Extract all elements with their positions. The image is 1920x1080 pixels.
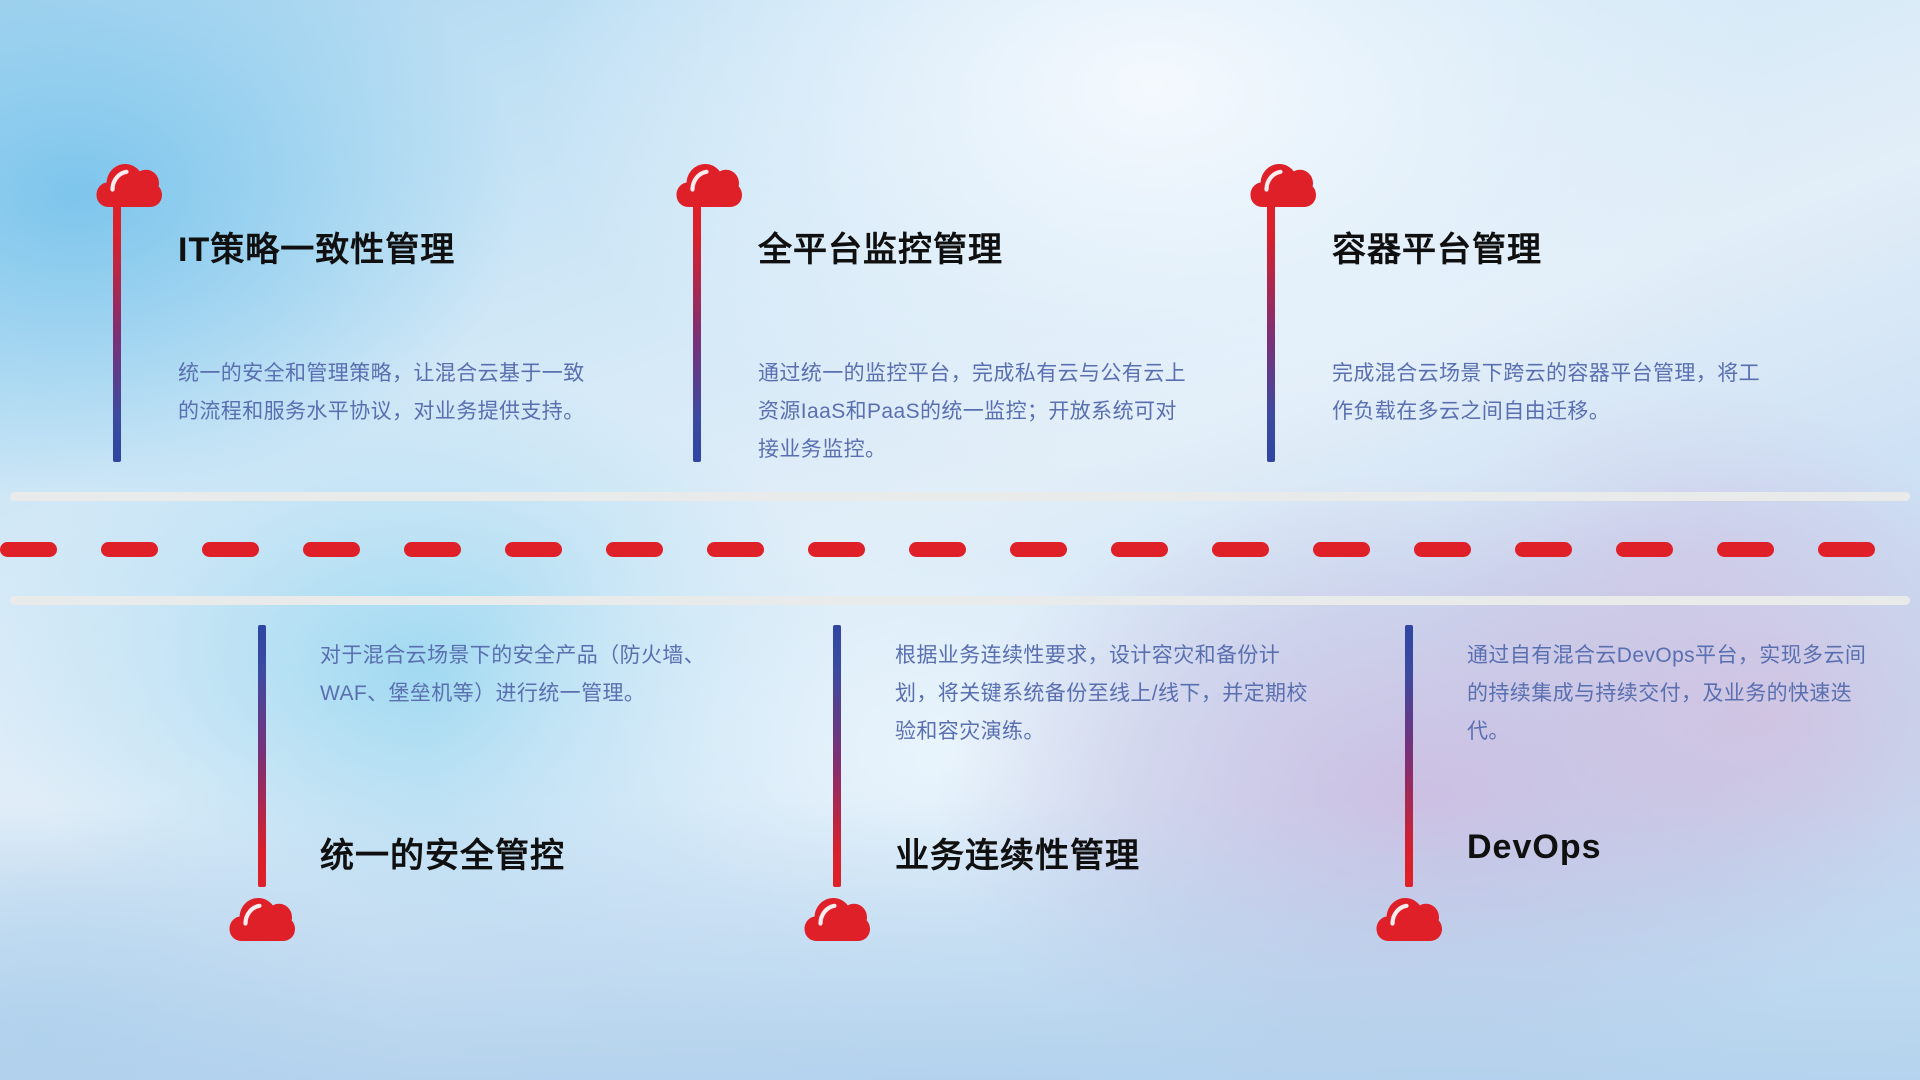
card-description-it-policy-consistency: 统一的安全和管理策略，让混合云基于一致的流程和服务水平协议，对业务提供支持。	[178, 355, 598, 431]
cloud-icon	[676, 158, 742, 210]
road-dash-segment	[101, 542, 158, 557]
road-edge-top	[10, 492, 1910, 501]
pin-pole-unified-security	[258, 625, 266, 887]
road-center-dashed-line	[0, 541, 1920, 557]
card-description-full-platform-monitoring: 通过统一的监控平台，完成私有云与公有云上资源IaaS和PaaS的统一监控；开放系…	[758, 355, 1198, 469]
road-dash-segment	[0, 542, 57, 557]
pin-pole-devops	[1405, 625, 1413, 887]
pin-marker-it-policy-consistency	[96, 158, 162, 210]
road-dash-segment	[1010, 542, 1067, 557]
road-dash-segment	[1212, 542, 1269, 557]
road-dash-segment	[808, 542, 865, 557]
road-dash-segment	[606, 542, 663, 557]
card-description-devops: 通过自有混合云DevOps平台，实现多云间的持续集成与持续交付，及业务的快速迭代…	[1467, 637, 1887, 751]
cloud-icon	[1250, 158, 1316, 210]
pin-marker-business-continuity	[804, 892, 870, 944]
road-dash-segment	[707, 542, 764, 557]
road-dash-segment	[202, 542, 259, 557]
card-title-it-policy-consistency: IT策略一致性管理	[178, 222, 455, 271]
pin-pole-business-continuity	[833, 625, 841, 887]
card-title-container-platform: 容器平台管理	[1332, 222, 1542, 271]
card-title-unified-security: 统一的安全管控	[320, 828, 565, 877]
road-dash-segment	[1414, 542, 1471, 557]
pin-pole-it-policy-consistency	[113, 202, 121, 462]
pin-pole-full-platform-monitoring	[693, 202, 701, 462]
road-dash-segment	[1818, 542, 1875, 557]
cloud-icon	[1376, 892, 1442, 944]
road-dash-segment	[909, 542, 966, 557]
card-title-business-continuity: 业务连续性管理	[895, 828, 1140, 877]
cloud-icon	[229, 892, 295, 944]
road-dash-segment	[1111, 542, 1168, 557]
road-dash-segment	[1515, 542, 1572, 557]
card-title-devops: DevOps	[1467, 828, 1602, 867]
card-description-business-continuity: 根据业务连续性要求，设计容灾和备份计划，将关键系统备份至线上/线下，并定期校验和…	[895, 637, 1315, 751]
road-dash-segment	[1313, 542, 1370, 557]
pin-marker-devops	[1376, 892, 1442, 944]
road-edge-bottom	[10, 596, 1910, 605]
road-dash-segment	[1616, 542, 1673, 557]
card-description-container-platform: 完成混合云场景下跨云的容器平台管理，将工作负载在多云之间自由迁移。	[1332, 355, 1772, 431]
cloud-icon	[96, 158, 162, 210]
road-dash-segment	[303, 542, 360, 557]
road-dash-segment	[1717, 542, 1774, 557]
pin-pole-container-platform	[1267, 202, 1275, 462]
pin-marker-full-platform-monitoring	[676, 158, 742, 210]
pin-marker-unified-security	[229, 892, 295, 944]
cloud-icon	[804, 892, 870, 944]
card-title-full-platform-monitoring: 全平台监控管理	[758, 222, 1003, 271]
road-dash-segment	[505, 542, 562, 557]
pin-marker-container-platform	[1250, 158, 1316, 210]
card-description-unified-security: 对于混合云场景下的安全产品（防火墙、WAF、堡垒机等）进行统一管理。	[320, 637, 740, 713]
road-dash-segment	[404, 542, 461, 557]
